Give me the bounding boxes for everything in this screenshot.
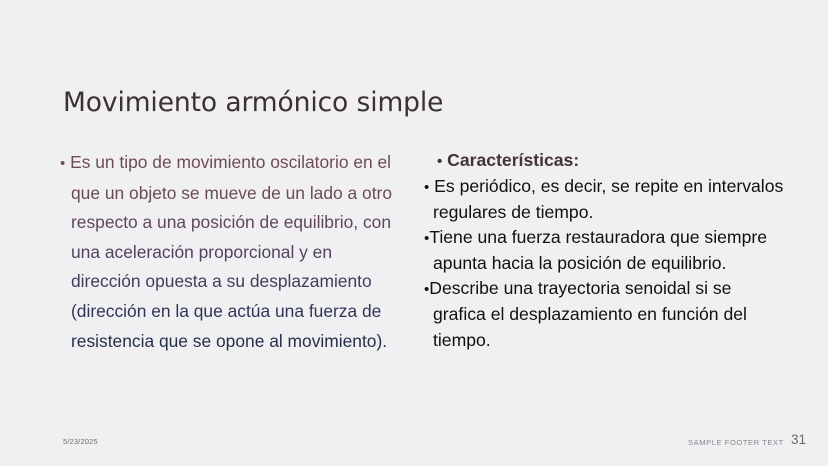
slide-number: 31 [791, 432, 806, 447]
left-bullet-paragraph: • Es un tipo de movimiento oscilatorio e… [60, 148, 405, 356]
characteristics-heading-text: Características: [447, 150, 579, 170]
list-item-text: Describe una trayectoria senoidal si se … [429, 278, 747, 349]
left-content-column: • Es un tipo de movimiento oscilatorio e… [60, 148, 405, 356]
list-item-text: Tiene una fuerza restauradora que siempr… [429, 227, 767, 273]
bullet-icon: • [60, 155, 65, 172]
list-item: •Describe una trayectoria senoidal si se… [424, 276, 784, 352]
list-item-text: Es periódico, es decir, se repite en int… [433, 176, 783, 222]
bullet-icon: • [437, 153, 442, 170]
list-item: •Tiene una fuerza restauradora que siemp… [424, 225, 784, 276]
footer-date: 5/23/2025 [63, 437, 98, 446]
bullet-icon: • [424, 179, 429, 196]
slide-title: Movimiento armónico simple [63, 88, 763, 118]
characteristics-heading: • Características: [424, 148, 784, 174]
footer-text: SAMPLE FOOTER TEXT [688, 438, 784, 447]
list-item: • Es periódico, es decir, se repite en i… [424, 174, 784, 225]
presentation-slide: Movimiento armónico simple • Es un tipo … [0, 0, 828, 466]
right-content-column: • Características: • Es periódico, es de… [424, 148, 784, 353]
left-bullet-text: Es un tipo de movimiento oscilatorio en … [70, 152, 392, 351]
